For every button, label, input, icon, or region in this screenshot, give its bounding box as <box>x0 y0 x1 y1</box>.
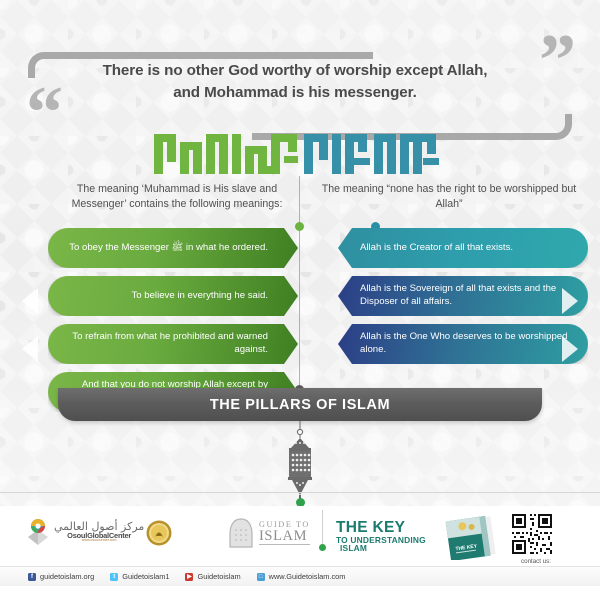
quote-close-icon: ” <box>539 24 576 98</box>
footer-green-dot <box>319 544 326 551</box>
osoul-globe-icon <box>26 518 50 546</box>
social-label: www.Guidetoislam.com <box>269 572 346 581</box>
twitter-icon: t <box>110 573 118 581</box>
quote-line-2: and Mohammad is his messenger. <box>60 82 530 104</box>
youtube-icon: ▶ <box>185 573 193 581</box>
social-label: Guidetoislam1 <box>122 572 169 581</box>
center-divider <box>299 176 300 388</box>
social-links-bar: f guidetoislam.org t Guidetoislam1 ▶ Gui… <box>0 566 600 586</box>
list-item[interactable]: Allah is the Sovereign of all that exist… <box>338 276 588 316</box>
left-column-heading: The meaning ‘Muhammad is His slave and M… <box>48 182 306 213</box>
osoul-url: www.osoulcenter.com <box>82 539 117 543</box>
kufic-teal-block <box>304 132 446 174</box>
guide-logo-line2: ISLAM <box>259 529 310 546</box>
list-item[interactable]: To believe in everything he said. <box>48 276 298 316</box>
chevron-right-icon <box>22 288 38 314</box>
footer-vertical-divider <box>322 510 323 544</box>
social-link-website[interactable]: □ www.Guidetoislam.com <box>257 572 346 581</box>
bar-label: Allah is the One Who deserves to be wors… <box>360 331 574 357</box>
social-link-youtube[interactable]: ▶ Guidetoislam <box>185 572 240 581</box>
pillars-banner[interactable]: THE PILLARS OF ISLAM <box>58 388 542 421</box>
social-label: guidetoislam.org <box>40 572 94 581</box>
the-key-line3: ISLAM <box>336 544 426 553</box>
guide-to-islam-logo[interactable]: GUIDE TO ISLAM <box>228 518 310 548</box>
qr-code-icon[interactable] <box>510 512 554 556</box>
bar-label: To obey the Messenger ﷺ in what he order… <box>62 242 268 255</box>
chevron-left-icon <box>562 336 578 362</box>
bar-label: Allah is the Creator of all that exists. <box>360 242 574 255</box>
bar-label: Allah is the Sovereign of all that exist… <box>360 283 574 309</box>
social-link-twitter[interactable]: t Guidetoislam1 <box>110 572 169 581</box>
right-column-heading: The meaning “none has the right to be wo… <box>320 182 578 213</box>
facebook-icon: f <box>28 573 36 581</box>
osoul-global-center-logo[interactable]: مركز أصول العالمي OsoulGlobalCenter www.… <box>26 518 144 546</box>
mosque-arch-icon <box>228 518 254 548</box>
quote-line-1: There is no other God worthy of worship … <box>103 62 488 79</box>
chevron-right-icon <box>22 336 38 362</box>
gold-seal-icon[interactable] <box>146 520 172 546</box>
list-item[interactable]: To refrain from what he prohibited and w… <box>48 324 298 364</box>
list-item[interactable]: Allah is the One Who deserves to be wors… <box>338 324 588 364</box>
the-key-title: THE KEY TO UNDERSTANDING ISLAM <box>336 520 426 553</box>
kufic-shahada-calligraphy <box>0 128 600 174</box>
the-key-line1: THE KEY <box>336 520 426 536</box>
social-link-facebook[interactable]: f guidetoislam.org <box>28 572 94 581</box>
infographic-page: “ ” There is no other God worthy of wors… <box>0 0 600 600</box>
bar-label: To believe in everything he said. <box>62 290 268 303</box>
list-item[interactable]: To obey the Messenger ﷺ in what he order… <box>48 228 298 268</box>
social-label: Guidetoislam <box>197 572 240 581</box>
chevron-left-icon <box>562 288 578 314</box>
book-cover-image[interactable]: THE KEY <box>442 514 502 560</box>
kufic-green-block <box>154 132 302 174</box>
page-title: There is no other God worthy of worship … <box>60 60 530 104</box>
bar-label: To refrain from what he prohibited and w… <box>62 331 268 357</box>
list-item[interactable]: Allah is the Creator of all that exists. <box>338 228 588 268</box>
pillars-banner-label: THE PILLARS OF ISLAM <box>210 397 390 413</box>
right-bar-list: Allah is the Creator of all that exists.… <box>338 228 588 372</box>
website-icon: □ <box>257 573 265 581</box>
